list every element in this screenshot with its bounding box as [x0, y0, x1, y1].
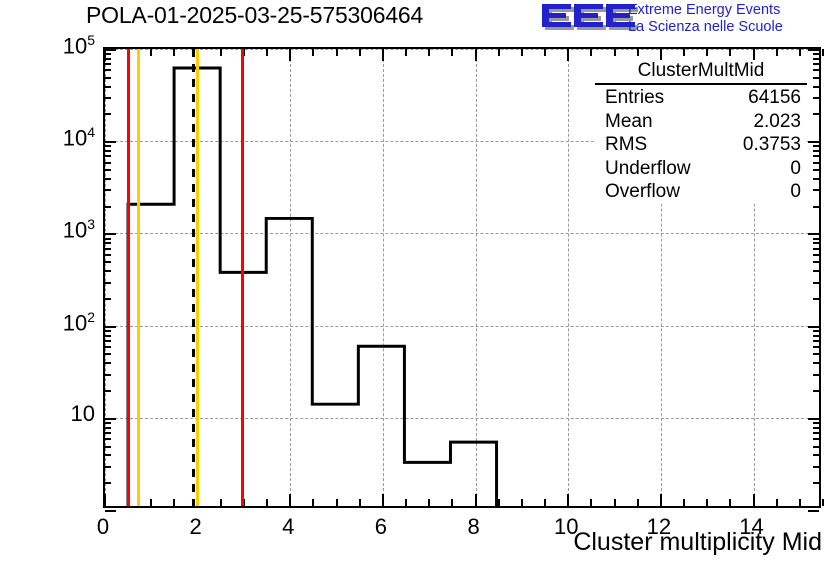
axis-tick	[808, 510, 819, 512]
stats-value: 0.3753	[743, 133, 801, 157]
stats-value: 0	[790, 157, 801, 181]
eee-logo-text: Extreme Energy Events La Scienza nelle S…	[628, 2, 783, 35]
stats-row: Underflow0	[595, 157, 807, 181]
stats-row: Mean2.023	[595, 110, 807, 134]
red-line-high	[241, 49, 244, 506]
stats-row: Overflow0	[595, 180, 807, 204]
stats-row: RMS0.3753	[595, 133, 807, 157]
stats-key: RMS	[605, 133, 647, 157]
x-axis-tick-label: 4	[263, 514, 313, 540]
stats-value: 64156	[748, 86, 801, 110]
stats-key: Underflow	[605, 157, 691, 181]
stats-row: Entries64156	[595, 86, 807, 110]
stats-key: Mean	[605, 110, 653, 134]
axis-tick	[822, 49, 824, 56]
eee-logo-line2: La Scienza nelle Scuole	[628, 19, 783, 36]
eee-logo-line1: Extreme Energy Events	[628, 2, 783, 19]
y-axis-tick-label: 104	[63, 124, 95, 151]
stats-title: ClusterMultMid	[595, 60, 807, 85]
eee-logo: Extreme Energy Events La Scienza nelle S…	[540, 2, 832, 36]
stats-box: ClusterMultMid Entries64156Mean2.023RMS0…	[595, 60, 807, 204]
stats-value: 2.023	[753, 110, 801, 134]
stats-value: 0	[790, 180, 801, 204]
page-title: POLA-01-2025-03-25-575306464	[86, 2, 423, 29]
black-dashed-mean	[192, 49, 195, 506]
orange-line-high	[196, 49, 199, 506]
y-axis-tick-label: 102	[63, 309, 95, 336]
axis-tick	[822, 499, 824, 506]
orange-line-low	[137, 49, 140, 506]
stats-key: Overflow	[605, 180, 680, 204]
x-axis-tick-label: 6	[356, 514, 406, 540]
x-axis-title: Cluster multiplicity Mid	[573, 528, 822, 557]
y-axis-tick-label: 103	[63, 216, 95, 243]
y-axis-tick-label: 10	[71, 401, 95, 427]
x-axis-tick-label: 8	[449, 514, 499, 540]
red-line-low	[127, 49, 130, 506]
histogram-outline	[128, 68, 497, 506]
eee-letters-icon	[540, 3, 640, 34]
y-axis-tick-label: 105	[63, 32, 95, 59]
stats-key: Entries	[605, 86, 664, 110]
stats-rows: Entries64156Mean2.023RMS0.3753Underflow0…	[595, 86, 807, 204]
x-axis-tick-label: 0	[78, 514, 128, 540]
axis-tick	[105, 510, 116, 512]
root-canvas: POLA-01-2025-03-25-575306464	[0, 0, 836, 572]
x-axis-tick-label: 2	[171, 514, 221, 540]
